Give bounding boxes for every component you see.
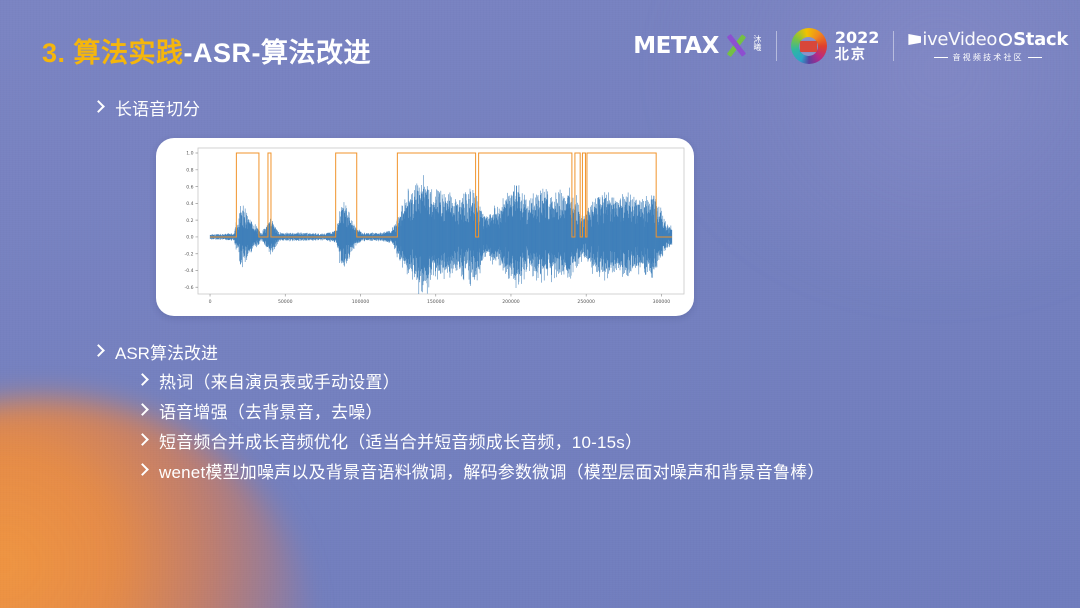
bullet-section-2-label: ASR算法改进: [115, 339, 218, 364]
conference-ring-icon: [791, 28, 827, 64]
bullet-item-1-label: 热词（来自演员表或手动设置）: [159, 368, 400, 393]
conference-badge: 2022 北京: [791, 28, 880, 64]
svg-text:300000: 300000: [653, 299, 671, 305]
bullet-item-4-label: wenet模型加噪声以及背景音语料微调，解码参数微调（模型层面对噪声和背景音鲁棒…: [159, 458, 825, 483]
lvs-part1: ive: [922, 29, 948, 50]
livevideostack-wordmark: iveVideoStack: [908, 29, 1068, 50]
livevideostack-dot-icon: [999, 33, 1012, 46]
lvs-part3: Stack: [1013, 29, 1068, 50]
page-title: 3. 算法实践-ASR-算法改进: [42, 31, 371, 70]
title-highlight: 算法实践: [74, 38, 184, 68]
conference-city: 北京: [835, 47, 880, 62]
bullet-section-1: 长语音切分: [92, 95, 200, 120]
svg-text:0: 0: [209, 299, 212, 305]
lvs-part2: Video: [948, 29, 997, 50]
bullet-item-2-label: 语音增强（去背景音，去噪）: [159, 398, 383, 423]
waveform-chart-card: 0500001000001500002000002500003000001.00…: [156, 138, 694, 316]
bullet-item-4: wenet模型加噪声以及背景音语料微调，解码参数微调（模型层面对噪声和背景音鲁棒…: [136, 458, 825, 483]
svg-text:-0.6: -0.6: [185, 285, 194, 291]
chevron-right-icon: [136, 371, 150, 391]
chevron-right-icon: [136, 431, 150, 451]
logo-bar: METAX 沐曦 2022 北京 iveVideoStack 音视频技术社区: [633, 24, 1068, 68]
bullet-item-3-label: 短音频合并成长音频优化（适当合并短音频成长音频，10-15s）: [159, 428, 642, 453]
logo-divider-2: [893, 31, 894, 61]
title-number: 3.: [42, 38, 66, 68]
conference-text: 2022 北京: [835, 30, 880, 61]
svg-text:0.0: 0.0: [186, 235, 193, 241]
chevron-right-icon: [92, 98, 106, 118]
svg-text:250000: 250000: [577, 299, 595, 305]
svg-text:0.6: 0.6: [186, 184, 193, 190]
logo-divider-1: [776, 31, 777, 61]
svg-text:50000: 50000: [278, 299, 293, 305]
bullet-section-2: ASR算法改进: [92, 339, 218, 364]
svg-text:150000: 150000: [427, 299, 445, 305]
svg-text:100000: 100000: [352, 299, 370, 305]
metax-chinese-name: 沐曦: [753, 35, 762, 57]
svg-text:200000: 200000: [502, 299, 520, 305]
bullet-item-1: 热词（来自演员表或手动设置）: [136, 368, 400, 393]
metax-wordmark: METAX: [633, 33, 719, 59]
livevideostack-subtitle: 音视频技术社区: [952, 52, 1023, 63]
svg-text:0.4: 0.4: [186, 201, 193, 207]
bullet-section-1-label: 长语音切分: [115, 95, 200, 120]
svg-text:1.0: 1.0: [186, 151, 193, 157]
svg-text:0.2: 0.2: [186, 218, 193, 224]
bullet-item-3: 短音频合并成长音频优化（适当合并短音频成长音频，10-15s）: [136, 428, 642, 453]
waveform-svg: 0500001000001500002000002500003000001.00…: [156, 138, 694, 316]
livevideostack-flag-icon: [908, 34, 921, 45]
bullet-item-2: 语音增强（去背景音，去噪）: [136, 398, 383, 423]
metax-logo: METAX 沐曦: [633, 33, 762, 59]
chevron-right-icon: [92, 342, 106, 362]
chevron-right-icon: [136, 401, 150, 421]
subtitle-rule-left: [934, 57, 948, 58]
livevideostack-subtitle-row: 音视频技术社区: [934, 52, 1041, 63]
livevideostack-logo: iveVideoStack 音视频技术社区: [908, 29, 1068, 63]
slide-canvas: 3. 算法实践-ASR-算法改进 METAX 沐曦 2022 北京 iveVid…: [0, 0, 1080, 608]
svg-text:-0.2: -0.2: [185, 251, 194, 257]
svg-text:-0.4: -0.4: [185, 268, 194, 274]
title-rest: -ASR-算法改进: [184, 38, 372, 68]
subtitle-rule-right: [1028, 57, 1042, 58]
chevron-right-icon: [136, 461, 150, 481]
conference-inner-mark-icon: [800, 41, 817, 52]
svg-text:0.8: 0.8: [186, 168, 193, 174]
conference-year: 2022: [835, 30, 880, 47]
waveform-plot: 0500001000001500002000002500003000001.00…: [156, 138, 694, 316]
metax-x-icon: [724, 34, 748, 58]
